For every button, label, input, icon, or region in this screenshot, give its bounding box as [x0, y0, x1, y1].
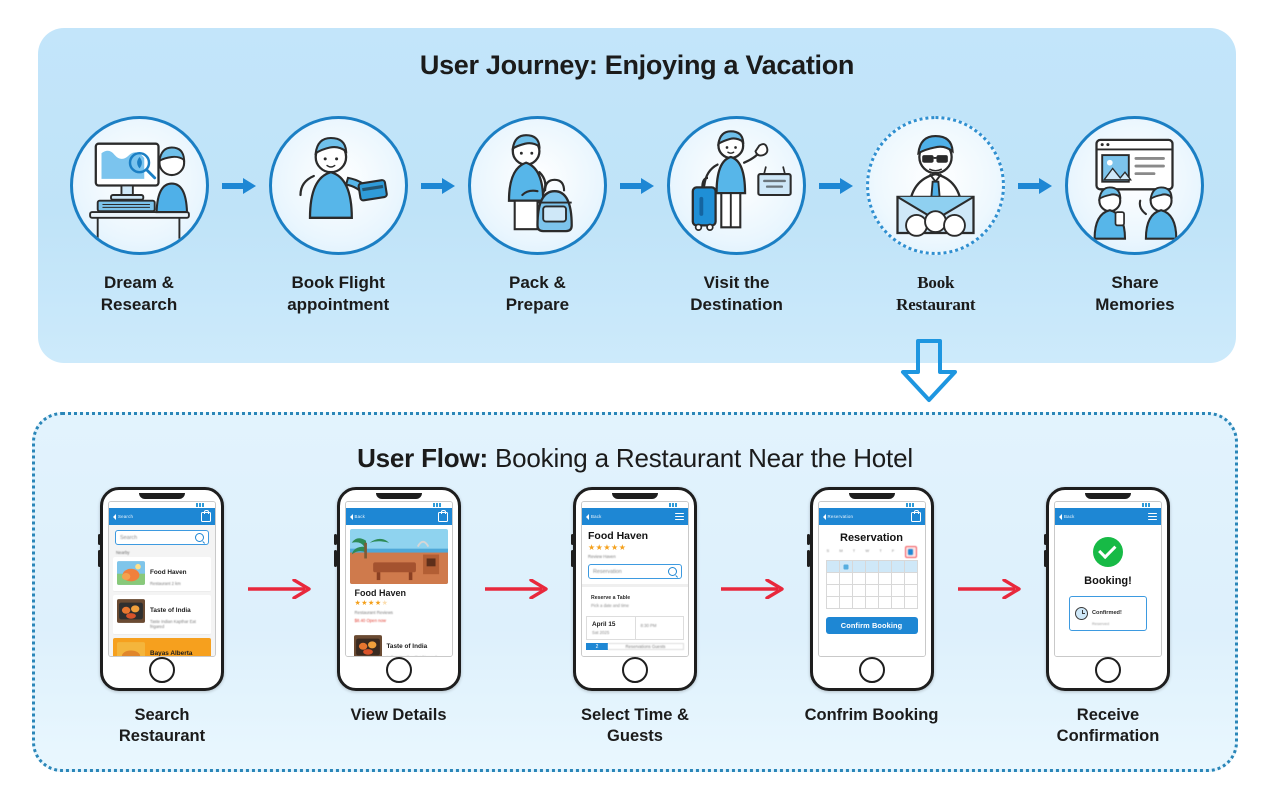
- confirmation-card: Confirmed! Reserved: [1069, 596, 1147, 631]
- calendar[interactable]: S M T W T F: [826, 548, 918, 609]
- app-bar-title: Back: [1064, 514, 1075, 519]
- check-mark: [1098, 541, 1116, 559]
- restaurant-name: Food Haven: [355, 588, 443, 598]
- search-placeholder: Reservation: [593, 569, 622, 575]
- journey-step-label: Visit the Destination: [690, 272, 783, 317]
- back-button[interactable]: Back: [1059, 514, 1075, 520]
- rating-stars: ★★★★★: [582, 543, 688, 552]
- journey-step-book-flight[interactable]: Book Flight appointment: [263, 116, 413, 317]
- weekday-label: T: [879, 548, 881, 558]
- phone-screen: Reservation Reservation S M T W: [818, 501, 926, 657]
- app-bar: Back: [346, 508, 452, 525]
- flow-step-search-restaurant[interactable]: Search Search Nearby: [91, 487, 233, 748]
- flow-step-view-details[interactable]: Back: [328, 487, 470, 726]
- flow-title-bold: User Flow:: [357, 443, 488, 473]
- screen-body: Reservation S M T W T F: [819, 525, 925, 656]
- restaurant-name: Food Haven: [582, 525, 688, 542]
- list-item-title: Bayas Alberta: [150, 650, 192, 656]
- restaurant-thumbnail: [117, 561, 145, 585]
- related-title: Taste of India: [387, 643, 428, 650]
- journey-step-label: Share Memories: [1095, 272, 1174, 317]
- journey-step-label: Dream & Research: [101, 272, 178, 317]
- calendar-weekday-row: S M T W T F: [826, 548, 918, 560]
- app-bar: Reservation: [819, 508, 925, 525]
- shopping-bag-icon[interactable]: [438, 512, 448, 522]
- home-button[interactable]: [386, 657, 412, 683]
- phone-mockup-time-guests[interactable]: Back Food Haven ★★★★★ Review Haven Reser…: [573, 487, 697, 691]
- phone-volume-up-button[interactable]: [807, 534, 810, 545]
- phone-mockup-confirmation[interactable]: Back Booking!: [1046, 487, 1170, 691]
- traveler-suitcase-sign-icon: [667, 116, 806, 255]
- app-bar-title: Reservation: [828, 514, 854, 519]
- person-backpack-icon: [468, 116, 607, 255]
- list-item[interactable]: Bayas Alberta: [113, 638, 211, 656]
- journey-step-dream-research[interactable]: Dream & Research: [64, 116, 214, 317]
- list-item-title: Food Haven: [150, 569, 187, 576]
- flow-step-label: Select Time & Guests: [564, 705, 706, 748]
- calendar-row[interactable]: [827, 584, 917, 596]
- back-button[interactable]: Back: [586, 514, 602, 520]
- phone-notch: [1085, 493, 1131, 499]
- home-button[interactable]: [149, 657, 175, 683]
- app-bar-title: Search: [118, 514, 133, 519]
- journey-title: User Journey: Enjoying a Vacation: [38, 50, 1236, 81]
- app-bar: Search: [109, 508, 215, 525]
- restaurant-price: $8.40 Open now: [355, 618, 443, 623]
- chevron-left-icon: [1059, 514, 1062, 520]
- flow-arrow-2: [479, 487, 555, 691]
- restaurant-detail-card: Food Haven ★★★★★ Restaurant Reviews $8.4…: [350, 584, 448, 628]
- rating-subtitle: Review Haven: [582, 552, 688, 559]
- time-cell[interactable]: 8:30 PM: [635, 617, 684, 639]
- restaurant-thumbnail: [117, 599, 145, 623]
- phone-mockup-details[interactable]: Back: [337, 487, 461, 691]
- journey-arrow-2: [416, 116, 460, 255]
- success-check-icon: [1093, 537, 1123, 567]
- journey-step-label: Book Restaurant: [896, 272, 975, 317]
- signal-icon: [1142, 503, 1158, 507]
- journey-arrow-3: [615, 116, 659, 255]
- shopping-bag-icon[interactable]: [911, 512, 921, 522]
- signal-icon: [433, 503, 449, 507]
- flow-step-confirm-booking[interactable]: Reservation Reservation S M T W: [801, 487, 943, 726]
- shopping-bag-icon[interactable]: [201, 512, 211, 522]
- journey-arrow-1: [217, 116, 261, 255]
- weekday-label: T: [853, 548, 855, 558]
- screen-body: Food Haven ★★★★★ Restaurant Reviews $8.4…: [346, 525, 452, 656]
- weekday-label: S: [827, 548, 830, 558]
- related-subtitle: Indian Kapthar Eat frigared: [387, 655, 444, 656]
- confirmation-card-subtitle: Reserved: [1092, 621, 1122, 626]
- restaurant-thumbnail: [117, 642, 145, 656]
- status-bar: [1055, 502, 1161, 508]
- restaurant-hero-image: [350, 529, 448, 584]
- person-credit-card-icon: [269, 116, 408, 255]
- journey-step-book-restaurant[interactable]: Book Restaurant: [861, 116, 1011, 317]
- flow-step-label: View Details: [351, 705, 447, 726]
- search-placeholder: Search: [120, 535, 137, 541]
- calendar-row[interactable]: [827, 596, 917, 608]
- flow-title: User Flow: Booking a Restaurant Near the…: [35, 443, 1235, 474]
- restaurant-meta: Restaurant Reviews: [355, 610, 443, 615]
- home-button[interactable]: [622, 657, 648, 683]
- chevron-left-icon: [586, 514, 589, 520]
- time-value: 8:30 PM: [641, 623, 679, 628]
- calendar-row[interactable]: [827, 572, 917, 584]
- app-bar-title: Back: [355, 514, 366, 519]
- phone-notch: [376, 493, 422, 499]
- flow-step-label: Confrim Booking: [805, 705, 939, 726]
- phone-volume-up-button[interactable]: [1044, 534, 1047, 545]
- phone-notch: [849, 493, 895, 499]
- desk-computer-research-icon: [70, 116, 209, 255]
- phone-volume-down-button[interactable]: [334, 550, 337, 567]
- phone-notch: [612, 493, 658, 499]
- flow-arrow-4: [952, 487, 1028, 691]
- journey-step-label: Pack & Prepare: [506, 272, 569, 317]
- chevron-left-icon: [350, 514, 353, 520]
- confirmation-card-title: Confirmed!: [1092, 610, 1122, 616]
- list-item[interactable]: Food Haven Restaurant 2 km: [113, 557, 211, 592]
- signal-icon: [196, 503, 212, 507]
- flow-arrow-1: [242, 487, 318, 691]
- hamburger-menu-icon[interactable]: [675, 513, 684, 520]
- reserve-block-title: Reserve a Table: [591, 595, 679, 601]
- flow-step-list: Search Search Nearby: [35, 487, 1235, 748]
- date-time-selector[interactable]: April 15 Sat 2025 8:30 PM: [586, 616, 684, 640]
- restaurant-thumbnail: [354, 635, 382, 656]
- down-arrow-icon: [898, 338, 960, 404]
- journey-step-list: Dream & Research: [38, 116, 1236, 317]
- screen-body: Search Nearby Food Haven Restaurant 2 km: [109, 525, 215, 656]
- screen-body: Food Haven ★★★★★ Review Haven Reservatio…: [582, 525, 688, 656]
- search-icon[interactable]: [195, 533, 205, 543]
- waiter-envelope-icon: [866, 116, 1005, 255]
- list-item-title: Taste of India: [150, 607, 191, 614]
- date-value: April 15: [592, 621, 630, 628]
- reservation-title: Reservation: [819, 525, 925, 548]
- app-bar: Back: [582, 508, 688, 525]
- reservation-search-input[interactable]: Reservation: [588, 564, 682, 579]
- flow-step-label: Search Restaurant: [91, 705, 233, 748]
- booking-title: Booking!: [1084, 575, 1132, 587]
- phone-screen: Back Food Haven ★★★★★ Review Haven Reser…: [581, 501, 689, 657]
- status-bar: [582, 502, 688, 508]
- flow-step-receive-confirmation[interactable]: Back Booking!: [1037, 487, 1179, 748]
- phone-screen: Back Booking!: [1054, 501, 1162, 657]
- hamburger-menu-icon[interactable]: [1148, 513, 1157, 520]
- home-button[interactable]: [1095, 657, 1121, 683]
- screen-body: Booking! Confirmed! Reserved: [1055, 525, 1161, 656]
- guest-count-badge[interactable]: 2: [586, 643, 608, 650]
- chevron-left-icon: [113, 514, 116, 520]
- journey-arrow-4: [814, 116, 858, 255]
- journey-step-label: Book Flight appointment: [287, 272, 389, 317]
- journey-arrow-5: [1013, 116, 1057, 255]
- phone-notch: [139, 493, 185, 499]
- journey-step-pack-prepare[interactable]: Pack & Prepare: [462, 116, 612, 317]
- guests-row-label: Reservations Guests: [608, 643, 684, 650]
- flow-step-select-time-guests[interactable]: Back Food Haven ★★★★★ Review Haven Reser…: [564, 487, 706, 748]
- phone-volume-up-button[interactable]: [334, 534, 337, 545]
- status-bar: [346, 502, 452, 508]
- phone-volume-down-button[interactable]: [98, 550, 101, 567]
- search-icon[interactable]: [668, 567, 678, 577]
- date-cell[interactable]: April 15 Sat 2025: [587, 617, 635, 639]
- phone-volume-down-button[interactable]: [571, 550, 574, 567]
- phone-volume-up-button[interactable]: [98, 534, 101, 545]
- back-button[interactable]: Reservation: [823, 514, 854, 520]
- back-button[interactable]: Search: [113, 514, 133, 520]
- flow-title-rest: Booking a Restaurant Near the Hotel: [488, 443, 913, 473]
- phone-mockup-reservation[interactable]: Reservation Reservation S M T W: [810, 487, 934, 691]
- weekday-label: W: [865, 548, 869, 558]
- calendar-row[interactable]: [827, 561, 917, 572]
- status-bar: [819, 502, 925, 508]
- rating-stars: ★★★★★: [355, 599, 443, 607]
- list-item-subtitle: Restaurant 2 km: [150, 581, 207, 587]
- reserve-block: Reserve a Table Pick a date and time: [586, 591, 684, 612]
- reserve-block-subtitle: Pick a date and time: [591, 603, 679, 608]
- two-people-sharing-icon: [1065, 116, 1204, 255]
- journey-step-visit-destination[interactable]: Visit the Destination: [662, 116, 812, 317]
- clock-icon: [1075, 607, 1088, 620]
- confirm-booking-button[interactable]: Confirm Booking: [826, 617, 918, 634]
- signal-icon: [669, 503, 685, 507]
- phone-volume-up-button[interactable]: [571, 534, 574, 545]
- guests-row[interactable]: 2 Reservations Guests: [586, 643, 684, 650]
- phone-screen: Search Search Nearby: [108, 501, 216, 657]
- selected-date-highlight[interactable]: [905, 546, 917, 558]
- chevron-left-icon: [823, 514, 826, 520]
- list-item[interactable]: Taste of India Taste Indian Kapthar Eat …: [113, 595, 211, 635]
- date-sub: Sat 2025: [592, 630, 630, 635]
- app-bar: Back: [1055, 508, 1161, 525]
- user-journey-panel: User Journey: Enjoying a Vacation: [38, 28, 1236, 363]
- phone-mockup-search[interactable]: Search Search Nearby: [100, 487, 224, 691]
- phone-volume-down-button[interactable]: [1044, 550, 1047, 567]
- back-button[interactable]: Back: [350, 514, 366, 520]
- section-label: Nearby: [109, 550, 215, 557]
- home-button[interactable]: [859, 657, 885, 683]
- signal-icon: [906, 503, 922, 507]
- related-list-item[interactable]: Taste of India Indian Kapthar Eat frigar…: [350, 631, 448, 656]
- flow-step-label: Receive Confirmation: [1057, 705, 1160, 748]
- status-bar: [109, 502, 215, 508]
- user-flow-panel: User Flow: Booking a Restaurant Near the…: [32, 412, 1238, 772]
- search-input[interactable]: Search: [115, 530, 209, 545]
- confirmation-content: Booking! Confirmed! Reserved: [1055, 525, 1161, 656]
- list-item-subtitle: Taste Indian Kapthar Eat frigared: [150, 619, 207, 630]
- phone-volume-down-button[interactable]: [807, 550, 810, 567]
- calendar-grid[interactable]: [826, 560, 918, 609]
- flow-arrow-3: [715, 487, 791, 691]
- phone-screen: Back: [345, 501, 453, 657]
- weekday-label: M: [839, 548, 842, 558]
- weekday-label: F: [892, 548, 894, 558]
- app-bar-title: Back: [591, 514, 602, 519]
- journey-step-share-memories[interactable]: Share Memories: [1060, 116, 1210, 317]
